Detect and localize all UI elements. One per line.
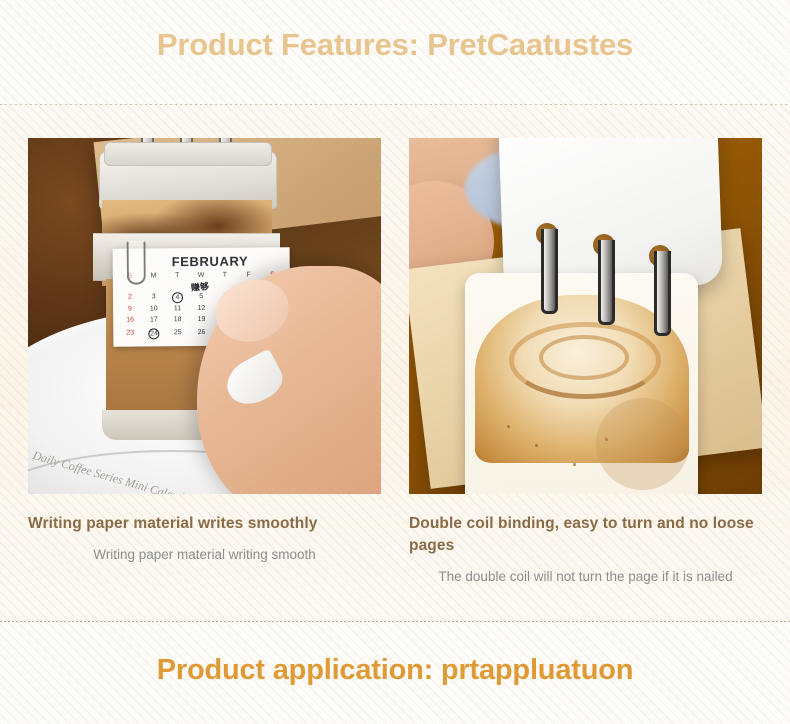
cup-lid-rim: [104, 142, 272, 167]
feature-subtitle-writing-paper: Writing paper material writing smooth: [28, 546, 381, 565]
latte-swirl-inner: [539, 335, 628, 380]
product-feature-page: Product Features: PretCaatustes Daily Co…: [0, 0, 790, 724]
coffee-stain: [596, 398, 689, 490]
feature-card-list: Daily Coffee Series Mini Calendar: [28, 138, 762, 587]
coil-wire: [654, 251, 671, 336]
calendar-day: 9: [118, 305, 142, 315]
coil-ring-1: [536, 223, 558, 305]
calendar-day: 18: [165, 316, 189, 327]
calendar-day-circled: 4: [172, 293, 183, 304]
coffee-speck: [573, 463, 576, 466]
coil-ring-2: [593, 234, 615, 316]
calendar-day: 12: [189, 305, 213, 315]
feature-subtitle-double-coil: The double coil will not turn the page i…: [409, 568, 762, 587]
calendar-day: 25: [166, 328, 190, 339]
calendar-weekday: T: [165, 272, 189, 280]
calendar-day: 2: [118, 293, 142, 304]
paper-clip-icon: [126, 241, 145, 285]
calendar-day: 4: [165, 293, 189, 304]
feature-card-writing-paper: Daily Coffee Series Mini Calendar: [28, 138, 381, 587]
feature-photo-writing-paper: Daily Coffee Series Mini Calendar: [28, 138, 381, 494]
top-title-band: Product Features: PretCaatustes: [0, 0, 790, 105]
calendar-day: 16: [118, 316, 142, 327]
feature-photo-double-coil: S FEBRUARY: [409, 138, 762, 494]
calendar-day: 3: [141, 293, 165, 304]
calendar-day: 17: [142, 316, 166, 327]
coil-ring-3: [649, 245, 671, 327]
calendar-day: 11: [165, 305, 189, 315]
calendar-handwritten-note: 赚够: [190, 280, 209, 295]
feature-title-writing-paper: Writing paper material writes smoothly: [28, 513, 381, 535]
features-band: Daily Coffee Series Mini Calendar: [0, 105, 790, 622]
calendar-day: 19: [189, 316, 213, 327]
calendar-day: 24: [142, 328, 166, 339]
calendar-day: 23: [118, 328, 142, 339]
page-title-top: Product Features: PretCaatustes: [0, 27, 790, 63]
page-title-bottom: Product application: prtappluatuon: [0, 654, 790, 687]
calendar-weekday: T: [213, 272, 237, 280]
feature-card-double-coil: S FEBRUARY Dou: [409, 138, 762, 587]
calendar-day: 5: [189, 292, 213, 303]
calendar-day-circled: 24: [148, 328, 159, 339]
calendar-day-empty: [141, 282, 165, 292]
coil-wire: [541, 229, 558, 314]
feature-title-double-coil: Double coil binding, easy to turn and no…: [409, 513, 762, 557]
coil-wire: [598, 240, 615, 325]
calendar-day: 10: [142, 305, 166, 315]
calendar-day-empty: [165, 281, 189, 291]
bottom-title-band: Product application: prtappluatuon: [0, 622, 790, 724]
